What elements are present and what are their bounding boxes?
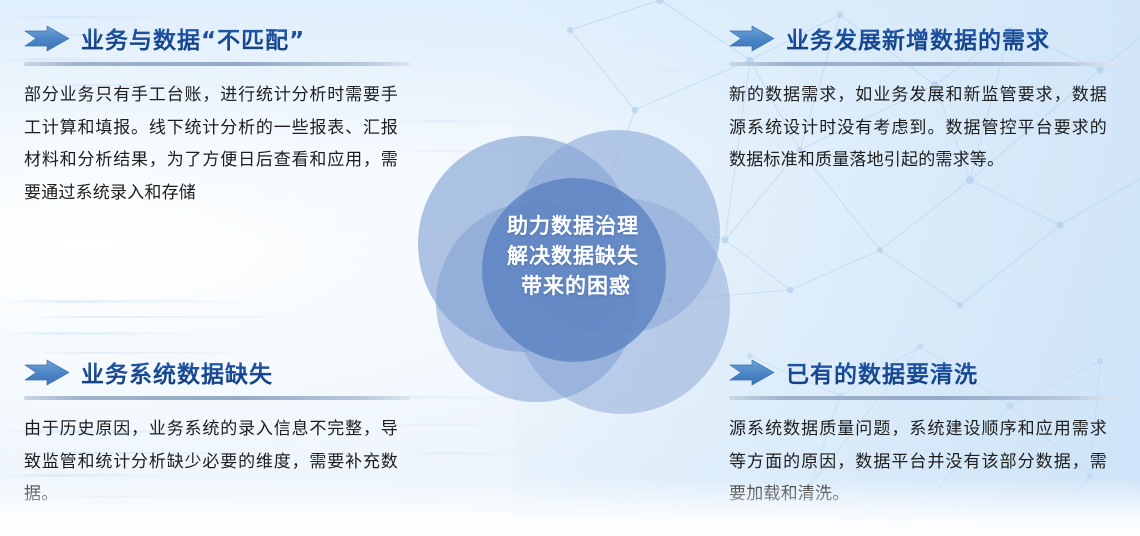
center-circle-cluster: 助力数据治理 解决数据缺失 带来的困惑 xyxy=(408,92,738,422)
quadrant-top-left-divider xyxy=(24,62,410,66)
arrow-right-icon xyxy=(729,25,775,52)
quadrant-top-left-title: 业务与数据“不匹配” xyxy=(81,21,305,55)
quadrant-top-right-body: 新的数据需求，如业务发展和新监管要求，数据源系统设计时没有考虑到。数据管控平台要… xyxy=(729,79,1107,177)
quadrant-top-right: 业务发展新增数据的需求 新的数据需求，如业务发展和新监管要求，数据源系统设计时没… xyxy=(729,18,1115,177)
quadrant-bottom-right-title: 已有的数据要清洗 xyxy=(786,355,978,389)
slide-canvas: 助力数据治理 解决数据缺失 带来的困惑 业务与数据“不匹配” 部分业务只有手工台… xyxy=(0,0,1140,536)
quadrant-top-left: 业务与数据“不匹配” 部分业务只有手工台账，进行统计分析时需要手工计算和填报。线… xyxy=(24,18,410,210)
quadrant-top-left-header: 业务与数据“不匹配” xyxy=(24,18,410,58)
quadrant-bottom-left-title: 业务系统数据缺失 xyxy=(81,355,273,389)
arrow-right-icon xyxy=(729,359,775,386)
quadrant-bottom-right-divider xyxy=(729,396,1115,400)
venn-circles xyxy=(408,92,738,422)
quadrant-bottom-right-header: 已有的数据要清洗 xyxy=(729,352,1115,392)
arrow-right-icon xyxy=(24,359,70,386)
quadrant-bottom-left-divider xyxy=(24,396,410,400)
venn-circle-core xyxy=(482,178,666,362)
quadrant-bottom-left-header: 业务系统数据缺失 xyxy=(24,352,410,392)
quadrant-top-right-divider xyxy=(729,62,1115,66)
arrow-right-icon xyxy=(24,25,70,52)
quadrant-top-right-title: 业务发展新增数据的需求 xyxy=(786,21,1050,55)
quadrant-top-left-body: 部分业务只有手工台账，进行统计分析时需要手工计算和填报。线下统计分析的一些报表、… xyxy=(24,79,398,210)
background-bottom-fade xyxy=(0,476,1140,536)
quadrant-top-right-header: 业务发展新增数据的需求 xyxy=(729,18,1115,58)
